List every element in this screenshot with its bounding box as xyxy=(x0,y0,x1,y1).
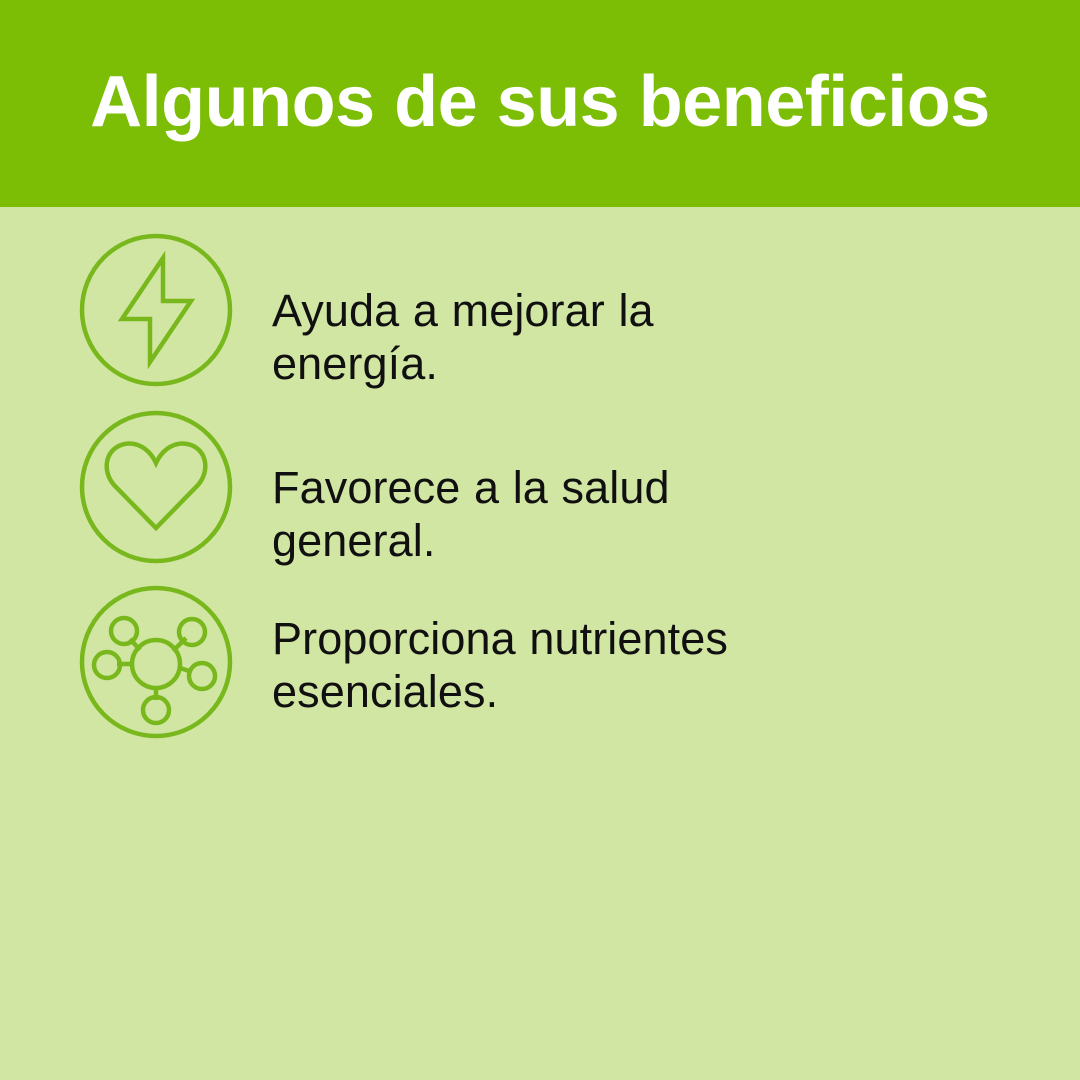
heart-icon xyxy=(78,409,234,565)
benefits-poster: Algunos de sus beneficios Ayuda a mejora… xyxy=(0,0,1080,1080)
benefit-item-energy: Ayuda a mejorar la energía. xyxy=(78,232,1018,390)
molecule-icon xyxy=(78,584,234,740)
benefit-label: Proporciona nutrientes esenciales. xyxy=(272,584,832,718)
page-title: Algunos de sus beneficios xyxy=(50,66,1030,138)
header-band: Algunos de sus beneficios xyxy=(0,0,1080,207)
benefit-item-health: Favorece a la salud general. xyxy=(78,409,1018,567)
benefit-item-nutrients: Proporciona nutrientes esenciales. xyxy=(78,584,1018,740)
benefit-label: Ayuda a mejorar la energía. xyxy=(272,232,832,390)
benefit-label: Favorece a la salud general. xyxy=(272,409,832,567)
lightning-bolt-icon xyxy=(78,232,234,388)
